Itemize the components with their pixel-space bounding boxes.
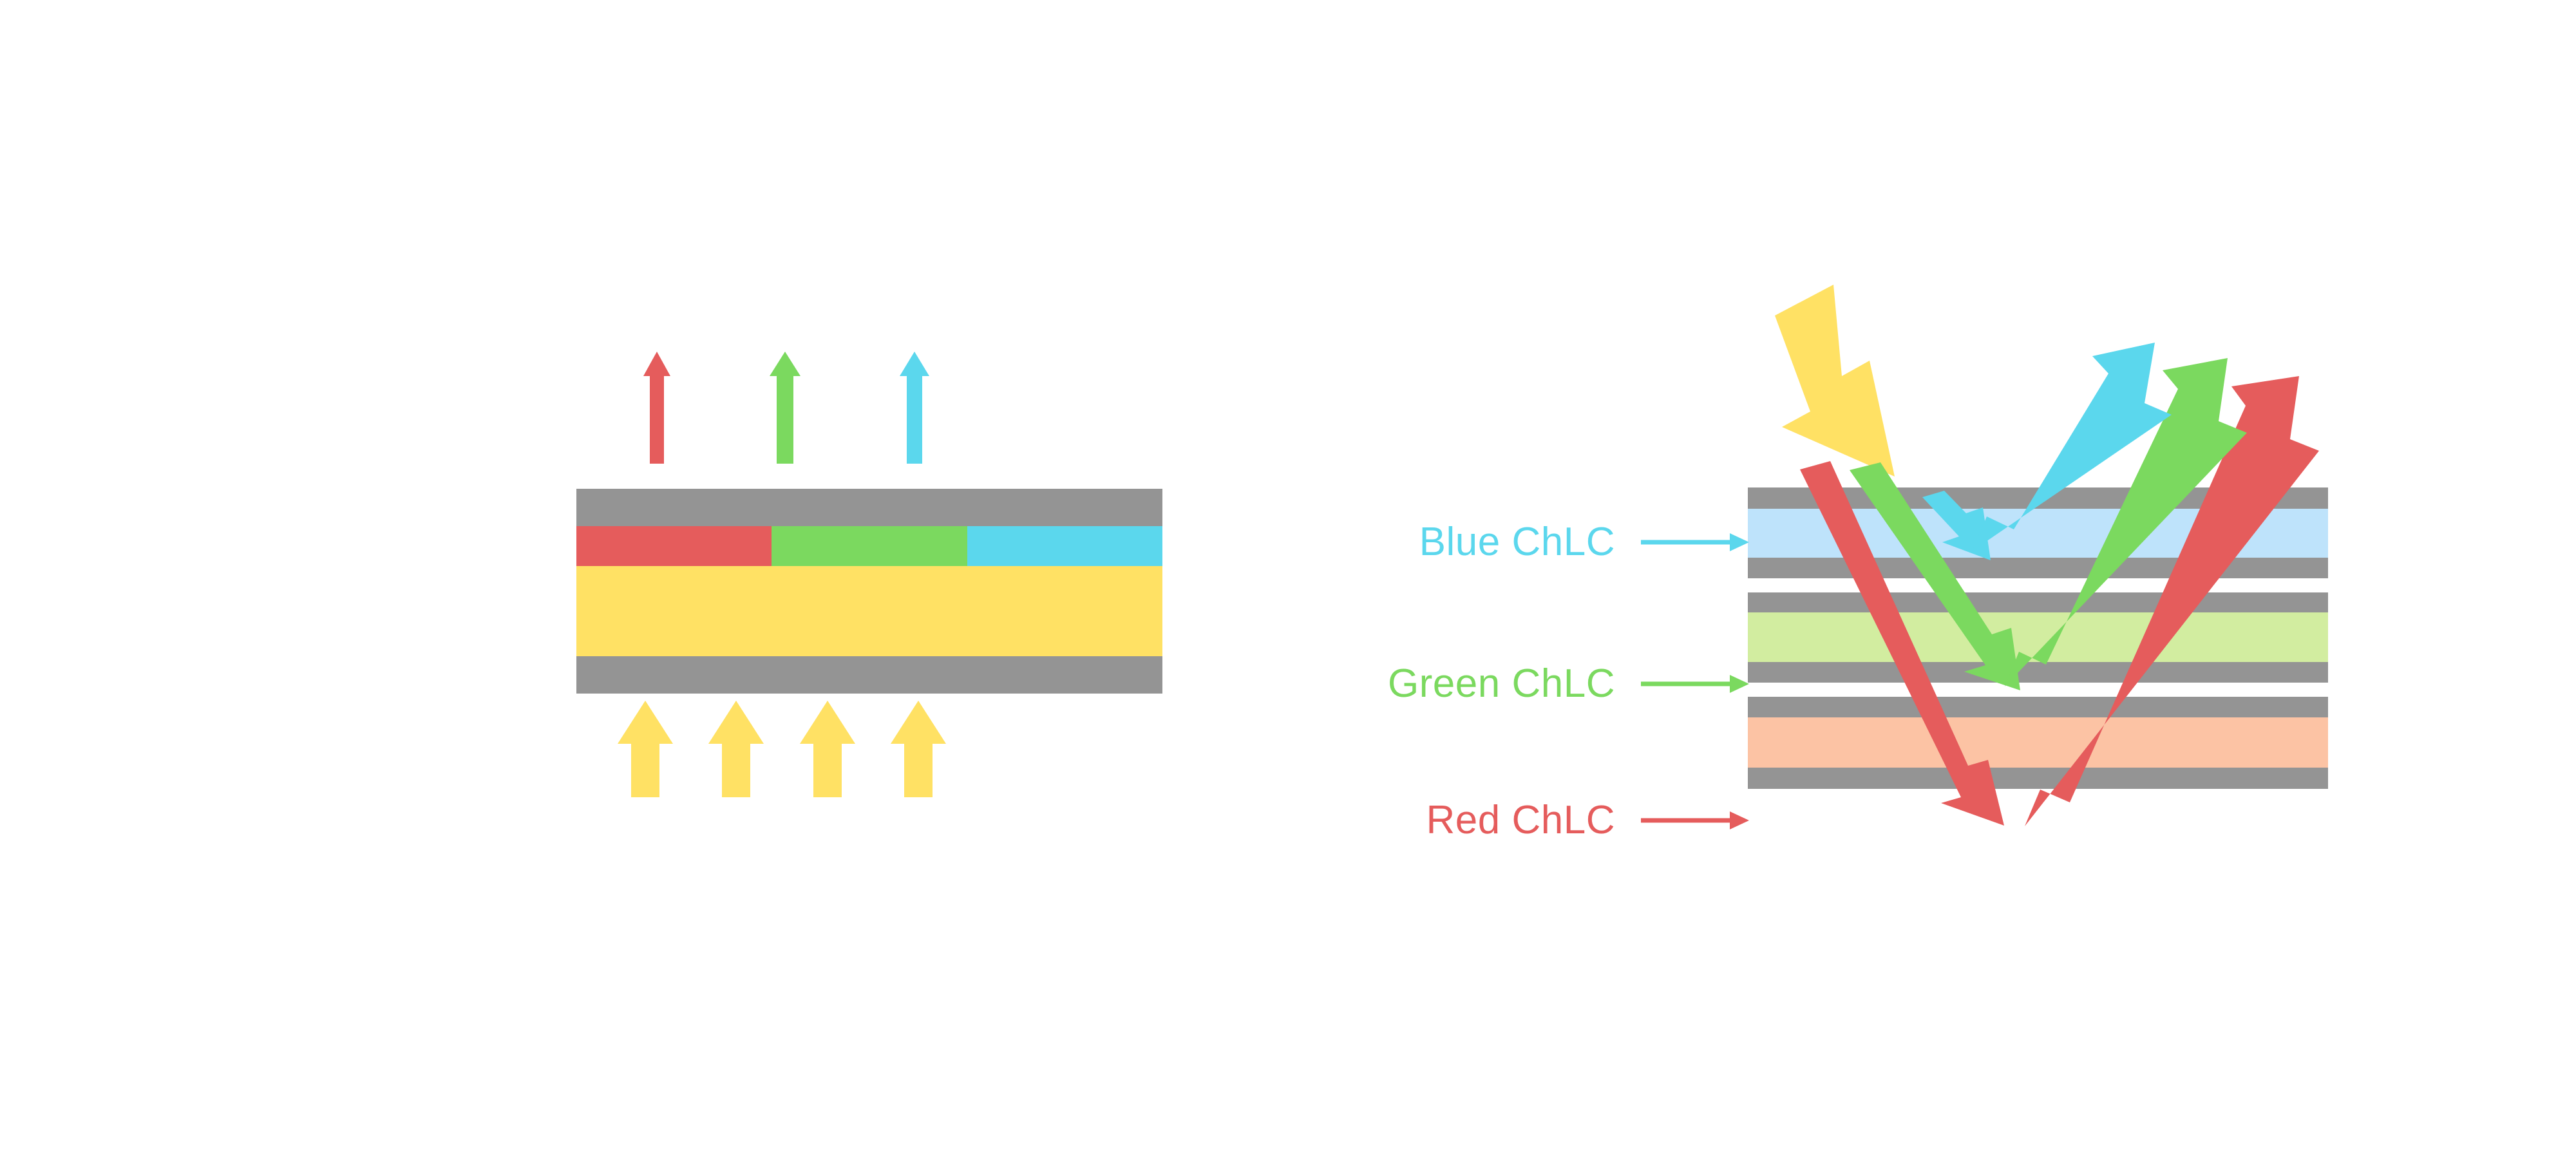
- incident-white-light-arrow: [1775, 285, 1895, 477]
- backlight-layer: [576, 566, 1162, 656]
- backlight-arrow-2: [708, 701, 764, 797]
- red-cell-top-electrode: [1748, 697, 2328, 717]
- green-filter-segment: [772, 526, 967, 566]
- red-cell-bottom-electrode: [1748, 768, 2328, 789]
- emitted-red-arrow: [643, 352, 670, 464]
- diagram-canvas: Blue ChLC Green ChLC Red ChLC: [0, 0, 2576, 1154]
- green-cell-bottom-electrode: [1748, 662, 2328, 683]
- red-chlc-label: Red ChLC: [1426, 798, 1749, 842]
- green-chlc-label: Green ChLC: [1388, 661, 1749, 706]
- backlight-arrow-3: [800, 701, 855, 797]
- backlight-arrow-4: [891, 701, 946, 797]
- red-label-arrow-icon: [1641, 811, 1749, 829]
- emitted-light-arrows: [643, 352, 929, 464]
- backlight-arrow-1: [618, 701, 673, 797]
- top-substrate-layer: [576, 489, 1162, 526]
- blue-chlc-label-text: Blue ChLC: [1419, 520, 1615, 564]
- left-layer-stack: [576, 489, 1162, 694]
- emitted-green-arrow: [770, 352, 800, 464]
- blue-cell-bottom-electrode: [1748, 558, 2328, 578]
- chlc-display-diagram: Blue ChLC Green ChLC Red ChLC: [0, 0, 2576, 1154]
- red-chlc-label-text: Red ChLC: [1426, 798, 1615, 842]
- blue-filter-segment: [967, 526, 1162, 566]
- blue-chlc-label: Blue ChLC: [1419, 520, 1749, 564]
- green-cell-top-electrode: [1748, 592, 2328, 612]
- red-filter-segment: [576, 526, 772, 566]
- layer-labels: Blue ChLC Green ChLC Red ChLC: [1388, 520, 1749, 842]
- bottom-substrate-layer: [576, 656, 1162, 694]
- backlight-arrows: [618, 701, 946, 797]
- red-chlc-layer: [1748, 717, 2328, 768]
- blue-label-arrow-icon: [1641, 533, 1749, 551]
- left-panel: [576, 352, 1162, 797]
- green-chlc-label-text: Green ChLC: [1388, 661, 1615, 706]
- right-panel: Blue ChLC Green ChLC Red ChLC: [1388, 285, 2328, 842]
- green-label-arrow-icon: [1641, 675, 1749, 693]
- emitted-blue-arrow: [900, 352, 929, 464]
